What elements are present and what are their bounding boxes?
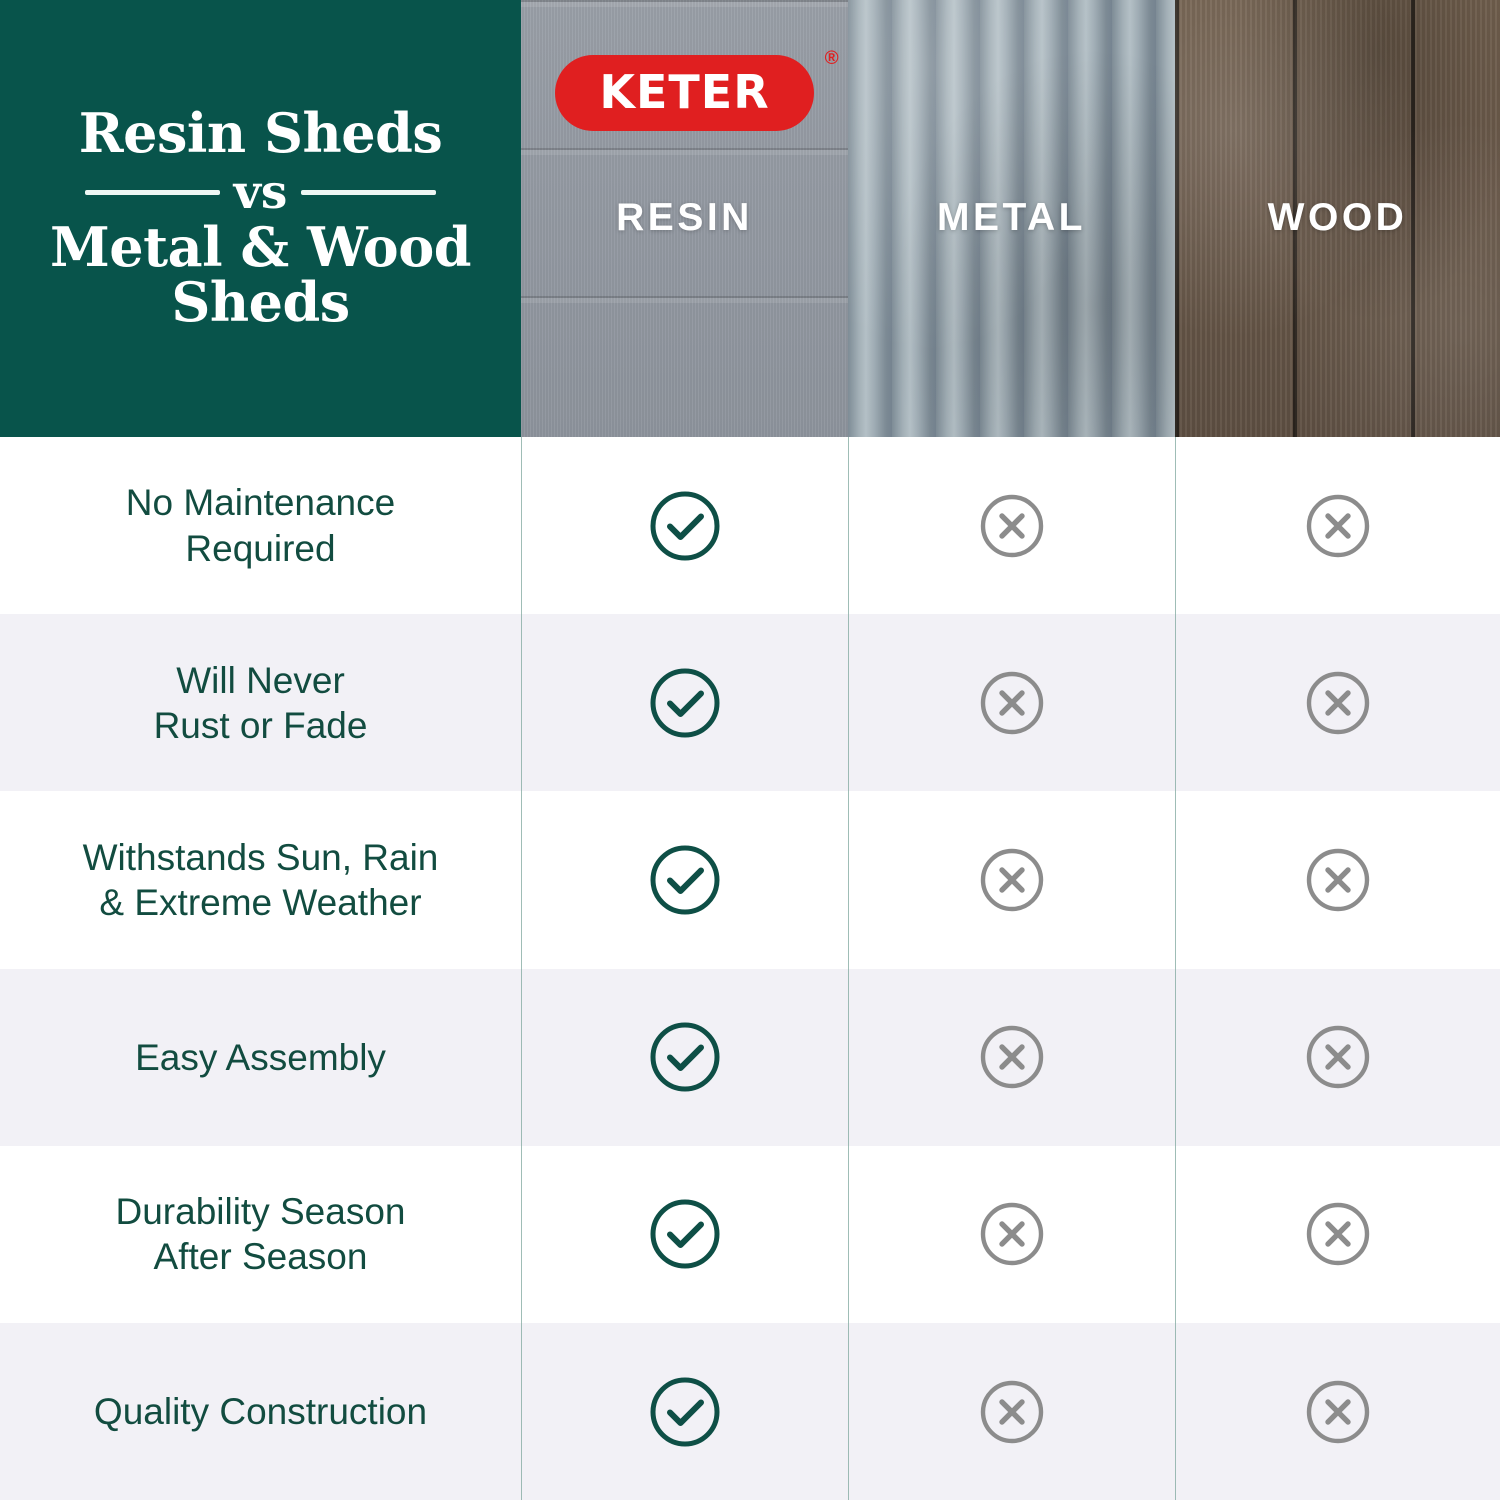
row-label-line: & Extreme Weather: [99, 882, 421, 923]
row-label-4: Easy Assembly: [0, 969, 521, 1146]
check-circle-icon: [646, 841, 724, 919]
cell-resin-row-4: [521, 969, 848, 1146]
row-label-text: Withstands Sun, Rain& Extreme Weather: [83, 835, 439, 925]
comparison-chart: Resin Sheds vs Metal & Wood Sheds KETER …: [0, 0, 1500, 1500]
title-line-1: Resin Sheds: [79, 106, 442, 162]
row-label-text: No MaintenanceRequired: [126, 480, 395, 570]
column-label-wood: WOOD: [1268, 196, 1408, 240]
row-label-line: After Season: [154, 1236, 368, 1277]
cell-metal-row-4: [848, 969, 1175, 1146]
check-circle-icon: [646, 487, 724, 565]
cell-metal-row-6: [848, 1323, 1175, 1500]
cell-wood-row-5: [1175, 1146, 1500, 1323]
registered-trademark-icon: ®: [825, 49, 839, 68]
row-label-2: Will NeverRust or Fade: [0, 614, 521, 791]
cell-metal-row-3: [848, 791, 1175, 968]
cross-circle-icon: [1303, 491, 1373, 561]
vs-rule-right: [301, 190, 436, 195]
row-label-text: Will NeverRust or Fade: [154, 658, 368, 748]
column-header-resin: KETER ® RESIN: [521, 0, 848, 437]
row-label-text: Durability SeasonAfter Season: [116, 1189, 406, 1279]
cell-wood-row-6: [1175, 1323, 1500, 1500]
vs-word: vs: [234, 169, 288, 216]
cross-circle-icon: [977, 668, 1047, 738]
row-label-line: Rust or Fade: [154, 705, 368, 746]
column-label-resin: RESIN: [616, 196, 753, 240]
cell-wood-row-3: [1175, 791, 1500, 968]
cell-resin-row-5: [521, 1146, 848, 1323]
row-label-line: Quality Construction: [94, 1391, 427, 1432]
row-label-line: Will Never: [176, 660, 345, 701]
row-label-5: Durability SeasonAfter Season: [0, 1146, 521, 1323]
keter-logo-pill: KETER ®: [555, 55, 813, 131]
cross-circle-icon: [1303, 1377, 1373, 1447]
cell-wood-row-4: [1175, 969, 1500, 1146]
cell-resin-row-6: [521, 1323, 848, 1500]
cell-metal-row-1: [848, 437, 1175, 614]
title-line-3: Sheds: [171, 275, 349, 331]
keter-logo: KETER ®: [521, 55, 848, 131]
row-label-line: No Maintenance: [126, 482, 395, 523]
cell-metal-row-5: [848, 1146, 1175, 1323]
cell-wood-row-2: [1175, 614, 1500, 791]
cross-circle-icon: [977, 1199, 1047, 1269]
cell-metal-row-2: [848, 614, 1175, 791]
row-label-3: Withstands Sun, Rain& Extreme Weather: [0, 791, 521, 968]
vs-divider-row: vs: [26, 169, 495, 216]
row-label-text: Easy Assembly: [135, 1035, 386, 1080]
cross-circle-icon: [977, 1377, 1047, 1447]
check-circle-icon: [646, 1373, 724, 1451]
vs-rule-left: [85, 190, 220, 195]
cell-resin-row-1: [521, 437, 848, 614]
row-label-6: Quality Construction: [0, 1323, 521, 1500]
keter-logo-text: KETER: [599, 65, 769, 119]
cross-circle-icon: [1303, 845, 1373, 915]
cross-circle-icon: [977, 491, 1047, 561]
cell-resin-row-3: [521, 791, 848, 968]
check-circle-icon: [646, 664, 724, 742]
check-circle-icon: [646, 1018, 724, 1096]
row-label-line: Easy Assembly: [135, 1037, 386, 1078]
cross-circle-icon: [977, 845, 1047, 915]
row-label-text: Quality Construction: [94, 1389, 427, 1434]
column-header-wood: WOOD: [1175, 0, 1500, 437]
row-label-line: Withstands Sun, Rain: [83, 837, 439, 878]
cross-circle-icon: [1303, 668, 1373, 738]
cell-wood-row-1: [1175, 437, 1500, 614]
row-label-line: Required: [185, 528, 335, 569]
cross-circle-icon: [1303, 1022, 1373, 1092]
title-panel: Resin Sheds vs Metal & Wood Sheds: [0, 0, 521, 437]
cell-resin-row-2: [521, 614, 848, 791]
cross-circle-icon: [977, 1022, 1047, 1092]
column-label-metal: METAL: [937, 196, 1086, 240]
column-header-metal: METAL: [848, 0, 1175, 437]
row-label-line: Durability Season: [116, 1191, 406, 1232]
cross-circle-icon: [1303, 1199, 1373, 1269]
row-label-1: No MaintenanceRequired: [0, 437, 521, 614]
check-circle-icon: [646, 1195, 724, 1273]
title-line-2: Metal & Wood: [50, 220, 471, 276]
